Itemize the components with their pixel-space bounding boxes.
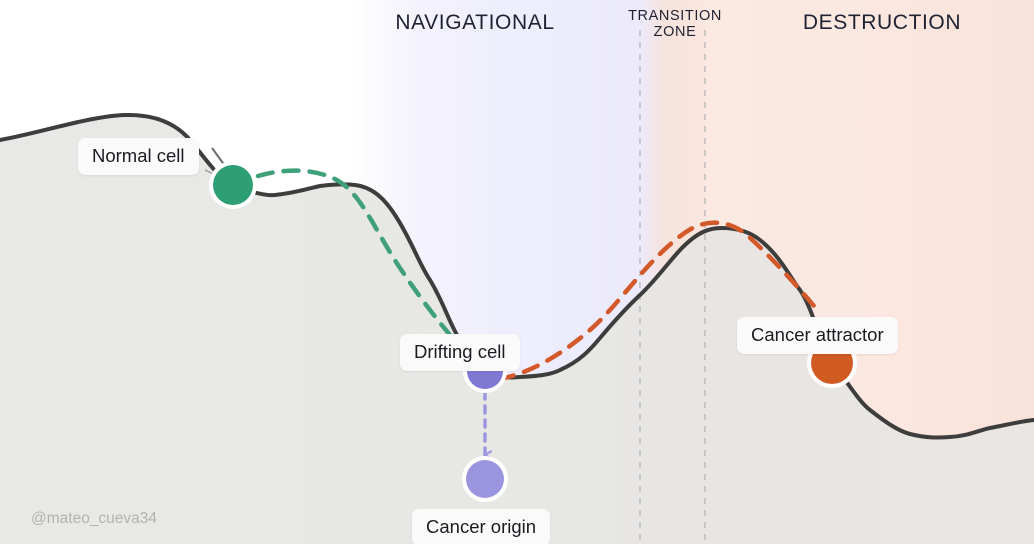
node-normal-cell[interactable] <box>213 165 253 205</box>
label-cancer-attractor: Cancer attractor <box>737 317 898 354</box>
author-watermark: @mateo_cueva34 <box>31 510 157 528</box>
label-cancer-origin: Cancer origin <box>412 509 550 544</box>
landscape-figure: NAVIGATIONAL TRANSITION ZONE DESTRUCTION… <box>0 0 1034 544</box>
zone-label-transition: TRANSITION ZONE <box>612 8 738 40</box>
landscape-canvas <box>0 0 1034 544</box>
zone-label-destruction: DESTRUCTION <box>772 11 992 35</box>
zone-label-navigational: NAVIGATIONAL <box>375 11 575 35</box>
node-cancer-origin[interactable] <box>466 460 504 498</box>
label-normal-cell: Normal cell <box>78 138 199 175</box>
label-drifting-cell: Drifting cell <box>400 334 520 371</box>
